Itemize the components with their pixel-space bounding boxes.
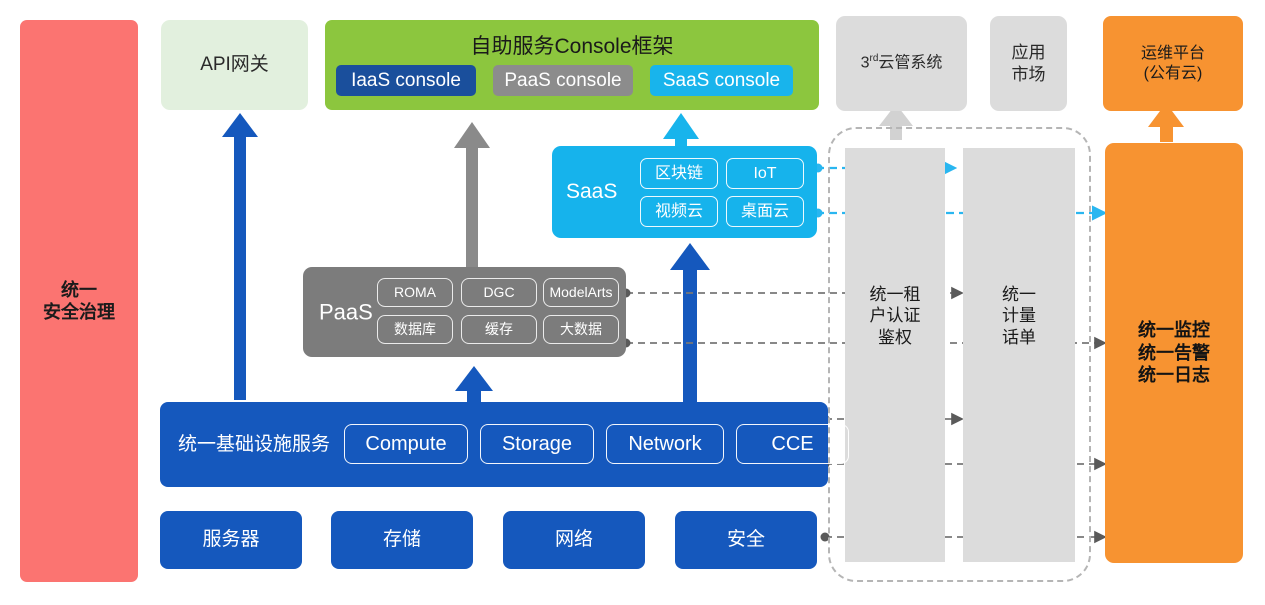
- ops-platform-line-1: 运维平台: [1141, 44, 1205, 64]
- box-resource-network[interactable]: 网络: [503, 511, 645, 569]
- api-gateway-label: API网关: [200, 53, 269, 77]
- monitoring-line-3: 统一日志: [1138, 364, 1210, 387]
- arrow-infra-to-saas: [670, 243, 710, 405]
- security-line-2: 安全治理: [43, 301, 115, 324]
- paas-item-dgc[interactable]: DGC: [461, 278, 537, 307]
- panel-console-framework[interactable]: 自助服务Console框架 IaaS console PaaS console …: [325, 20, 819, 110]
- box-resource-server[interactable]: 服务器: [160, 511, 302, 569]
- app-market-line-1: 应用: [1012, 42, 1046, 63]
- arrow-paas-to-console: [454, 122, 490, 270]
- paas-item-bigdata[interactable]: 大数据: [543, 315, 619, 344]
- auth-line-2: 户认证: [870, 305, 921, 326]
- panel-unified-monitoring[interactable]: 统一监控 统一告警 统一日志: [1105, 143, 1243, 563]
- arrow-infra-to-apigw: [222, 113, 258, 400]
- monitoring-line-1: 统一监控: [1138, 319, 1210, 342]
- metering-line-1: 统一: [1002, 284, 1036, 305]
- auth-line-1: 统一租: [870, 284, 921, 305]
- auth-line-3: 鉴权: [870, 327, 921, 348]
- label-unified-tenant-auth: 统一租 户认证 鉴权: [845, 276, 945, 356]
- metering-line-3: 话单: [1002, 327, 1036, 348]
- chip-iaas-console[interactable]: IaaS console: [336, 65, 476, 96]
- box-resource-security[interactable]: 安全: [675, 511, 817, 569]
- infra-item-network[interactable]: Network: [606, 424, 724, 464]
- chip-saas-console[interactable]: SaaS console: [650, 65, 793, 96]
- saas-item-iot[interactable]: IoT: [726, 158, 804, 189]
- ops-platform-line-2: (公有云): [1141, 64, 1205, 84]
- saas-item-video-cloud[interactable]: 视频云: [640, 196, 718, 227]
- panel-unified-security[interactable]: 统一 安全治理: [20, 20, 138, 582]
- chip-paas-console[interactable]: PaaS console: [493, 65, 633, 96]
- infra-item-storage[interactable]: Storage: [480, 424, 594, 464]
- box-app-market[interactable]: 应用 市场: [990, 16, 1067, 111]
- box-ops-platform[interactable]: 运维平台 (公有云): [1103, 16, 1243, 111]
- infra-label: 统一基础设施服务: [178, 433, 330, 457]
- metering-line-2: 计量: [1002, 305, 1036, 326]
- infra-item-cce[interactable]: CCE: [736, 424, 849, 464]
- third-party-label: 3rd云管系统: [861, 53, 943, 73]
- security-line-1: 统一: [43, 279, 115, 302]
- box-resource-storage[interactable]: 存储: [331, 511, 473, 569]
- box-api-gateway[interactable]: API网关: [161, 20, 308, 110]
- paas-label: PaaS: [319, 298, 373, 326]
- paas-item-database[interactable]: 数据库: [377, 315, 453, 344]
- paas-item-roma[interactable]: ROMA: [377, 278, 453, 307]
- paas-item-cache[interactable]: 缓存: [461, 315, 537, 344]
- infra-item-compute[interactable]: Compute: [344, 424, 468, 464]
- third-party-prefix: 3: [861, 55, 870, 72]
- box-third-party-cloud-mgmt[interactable]: 3rd云管系统: [836, 16, 967, 111]
- architecture-diagram: 统一 安全治理 API网关 自助服务Console框架 IaaS console…: [0, 0, 1265, 605]
- saas-label: SaaS: [566, 179, 617, 205]
- panel-saas[interactable]: SaaS 区块链 IoT 视频云 桌面云: [552, 146, 817, 238]
- paas-item-modelarts[interactable]: ModelArts: [543, 278, 619, 307]
- app-market-line-2: 市场: [1012, 64, 1046, 85]
- console-framework-title: 自助服务Console框架: [325, 34, 819, 60]
- monitoring-line-2: 统一告警: [1138, 342, 1210, 365]
- third-party-suffix: 云管系统: [878, 55, 942, 72]
- saas-item-desktop-cloud[interactable]: 桌面云: [726, 196, 804, 227]
- saas-item-blockchain[interactable]: 区块链: [640, 158, 718, 189]
- label-unified-metering: 统一 计量 话单: [963, 276, 1075, 356]
- panel-unified-infrastructure[interactable]: 统一基础设施服务 Compute Storage Network CCE: [160, 402, 828, 487]
- panel-paas[interactable]: PaaS ROMA DGC ModelArts 数据库 缓存 大数据: [303, 267, 626, 357]
